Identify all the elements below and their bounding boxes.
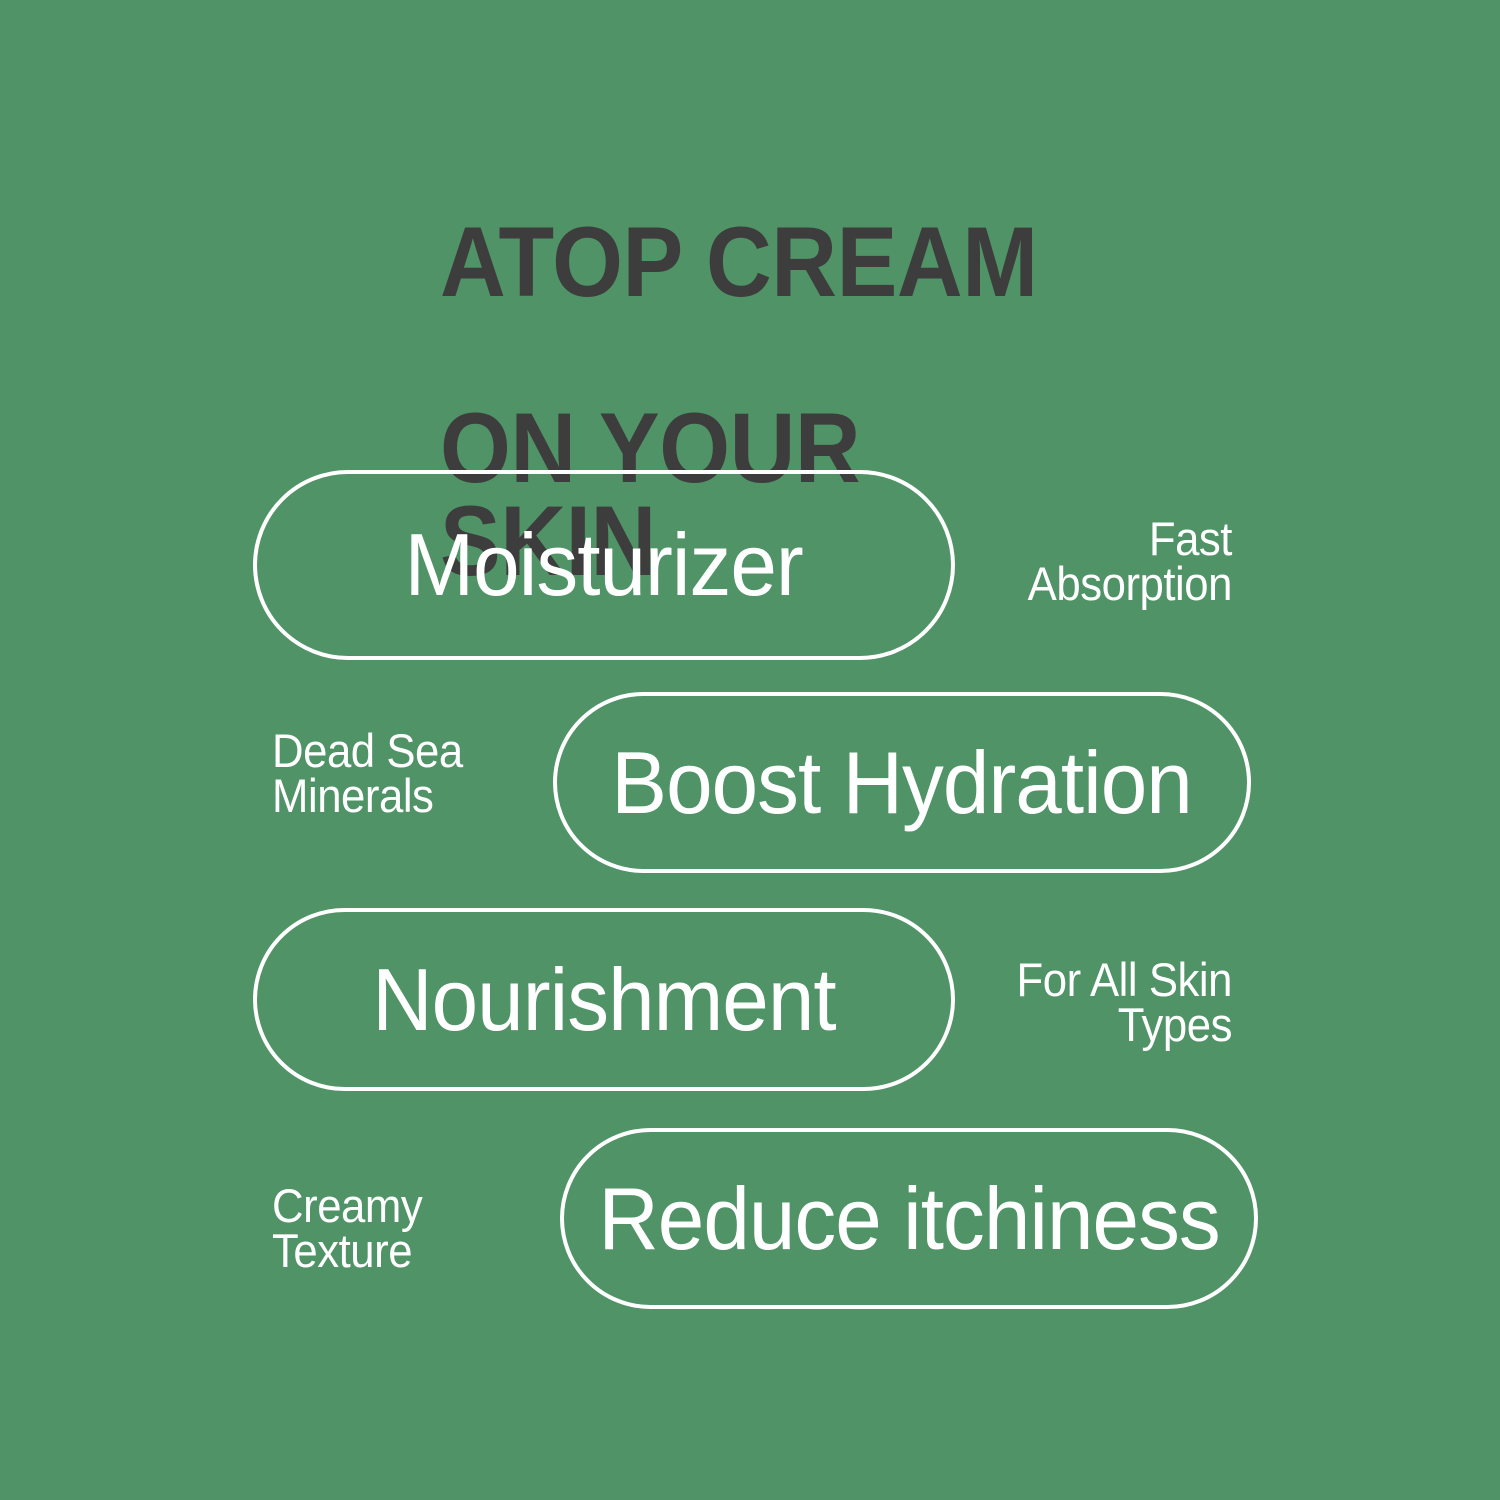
feature-pill-label: Moisturizer bbox=[405, 521, 803, 609]
feature-pill-label: Nourishment bbox=[372, 956, 835, 1044]
feature-pill-label: Reduce itchiness bbox=[598, 1175, 1219, 1263]
page-title-line-1: ATOP CREAM bbox=[440, 215, 1084, 308]
product-benefits-poster: ATOP CREAM ON YOUR SKIN Moisturizer Fast… bbox=[0, 0, 1500, 1500]
feature-side-label-for-all-skin-types: For All Skin Types bbox=[841, 957, 1232, 1047]
feature-side-label-fast-absorption: Fast Absorption bbox=[841, 516, 1232, 606]
feature-pill-label: Boost Hydration bbox=[612, 739, 1193, 827]
feature-side-label-creamy-texture: Creamy Texture bbox=[272, 1183, 663, 1273]
feature-side-label-dead-sea-minerals: Dead Sea Minerals bbox=[272, 728, 663, 818]
feature-pill-reduce-itchiness: Reduce itchiness bbox=[560, 1128, 1258, 1309]
